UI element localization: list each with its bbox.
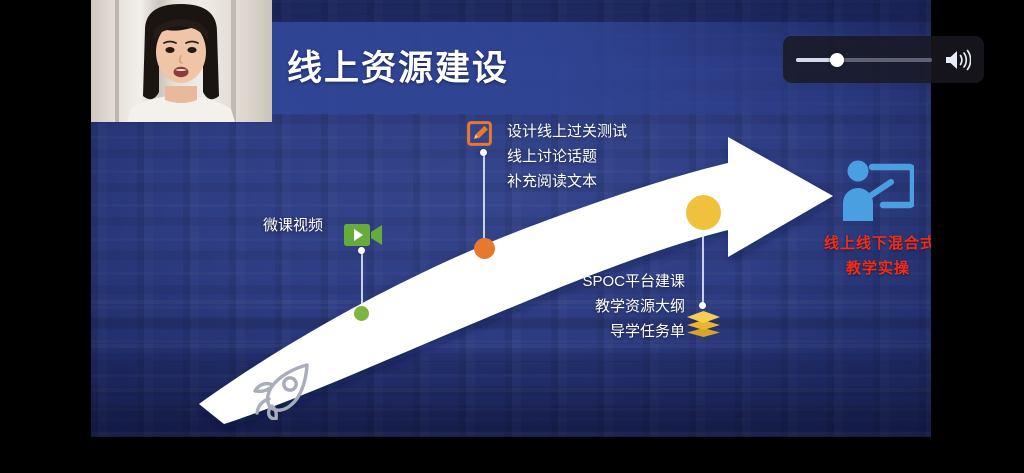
presenter-figure <box>91 0 272 122</box>
milestone-dot-online-quiz <box>474 238 495 259</box>
volume-control-bar[interactable] <box>783 36 984 83</box>
node-line: 导学任务单 <box>575 319 685 344</box>
volume-slider-knob[interactable] <box>830 53 844 67</box>
node-label-micro-video: 微课视频 <box>263 213 323 238</box>
node-line: 线上讨论话题 <box>507 144 627 169</box>
auditorium-seats-foreground <box>91 300 931 437</box>
volume-slider[interactable] <box>796 58 932 62</box>
node-line: 补充阅读文本 <box>507 169 627 194</box>
connector-line-micro-video <box>361 250 363 310</box>
connector-line-online-quiz <box>483 152 485 240</box>
milestone-dot-micro-video <box>354 306 369 321</box>
slide-title: 线上资源建设 <box>287 40 509 91</box>
rocket-icon <box>251 362 313 420</box>
connector-cap-spoc-platform <box>699 302 706 309</box>
connector-cap-online-quiz <box>480 149 487 156</box>
node-label-online-quiz: 设计线上过关测试 线上讨论话题 补充阅读文本 <box>507 119 627 194</box>
milestone-dot-spoc-platform <box>686 195 721 230</box>
speaker-volume-icon[interactable] <box>944 49 971 71</box>
outcome-text-line-2: 教学实操 <box>846 257 910 278</box>
connector-cap-micro-video <box>358 247 365 254</box>
video-player-stage[interactable]: 线上资源建设 微课视频 <box>0 0 1024 473</box>
connector-line-spoc-platform <box>702 230 704 305</box>
teacher-whiteboard-icon <box>839 158 914 222</box>
layers-stack-icon <box>685 310 722 337</box>
node-line: 设计线上过关测试 <box>507 119 627 144</box>
edit-pencil-icon <box>467 121 492 146</box>
node-label-spoc-platform: SPOC平台建课 教学资源大纲 导学任务单 <box>575 269 685 344</box>
node-line: 教学资源大纲 <box>575 294 685 319</box>
node-line: SPOC平台建课 <box>575 269 685 294</box>
video-camera-icon <box>344 222 383 248</box>
presenter-webcam[interactable] <box>91 0 272 122</box>
outcome-text-line-1: 线上线下混合式 <box>824 232 931 253</box>
